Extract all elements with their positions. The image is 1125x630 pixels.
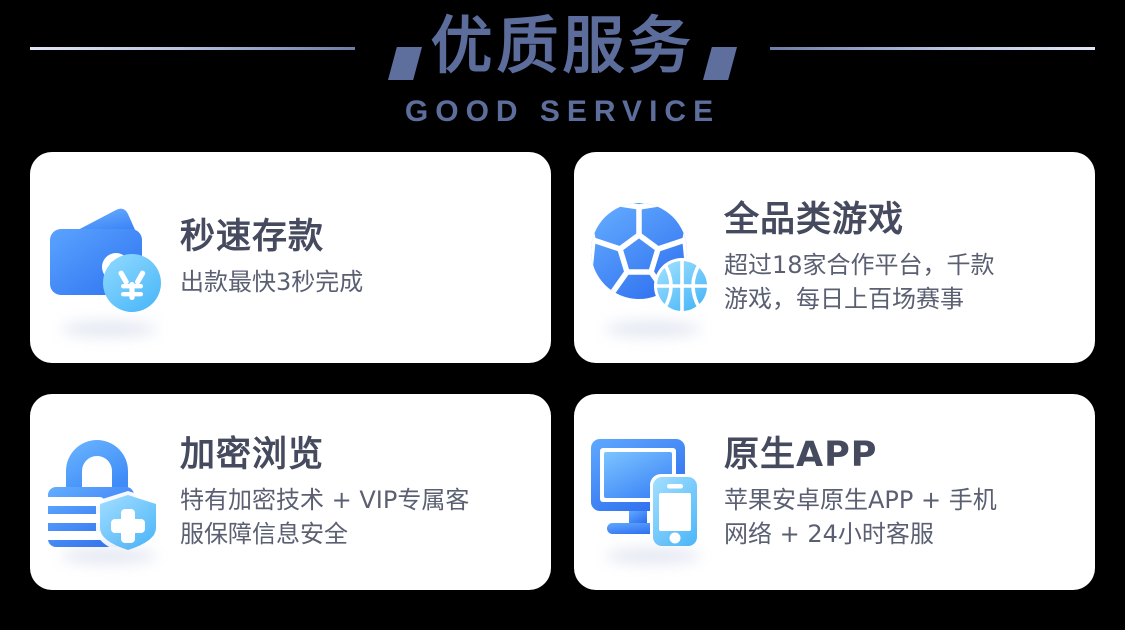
- card-description-line: 网络 + 24小时客服: [724, 517, 1077, 551]
- wallet-yen-icon: [30, 152, 180, 363]
- service-card-native-app[interactable]: 原生APP 苹果安卓原生APP + 手机 网络 + 24小时客服: [574, 394, 1095, 590]
- monitor-phone-icon-svg: [587, 433, 711, 551]
- card-text-block: 秒速存款 出款最快3秒完成: [180, 216, 551, 299]
- card-text-block: 原生APP 苹果安卓原生APP + 手机 网络 + 24小时客服: [724, 434, 1095, 551]
- soccer-basketball-icon: [574, 152, 724, 363]
- icon-shadow: [605, 321, 701, 337]
- card-title: 秒速存款: [180, 216, 533, 258]
- service-card-instant-deposit[interactable]: 秒速存款 出款最快3秒完成: [30, 152, 551, 363]
- card-title: 加密浏览: [180, 434, 533, 476]
- soccer-basketball-icon-svg: [586, 197, 712, 319]
- page-subtitle: GOOD SERVICE: [0, 94, 1125, 130]
- card-text-block: 加密浏览 特有加密技术 + VIP专属客 服保障信息安全: [180, 434, 551, 551]
- card-title: 全品类游戏: [724, 199, 1077, 241]
- card-description-line: 出款最快3秒完成: [180, 265, 533, 299]
- page-header: 优质服务 GOOD SERVICE: [0, 0, 1125, 145]
- wallet-yen-icon-svg: [44, 199, 166, 317]
- card-description-line: 超过18家合作平台，千款: [724, 248, 1077, 282]
- card-title: 原生APP: [724, 434, 1077, 476]
- card-description: 出款最快3秒完成: [180, 265, 533, 299]
- card-description: 特有加密技术 + VIP专属客 服保障信息安全: [180, 483, 533, 551]
- card-description-line: 苹果安卓原生APP + 手机: [724, 483, 1077, 517]
- lock-shield-icon-svg: [44, 429, 166, 555]
- service-card-all-category-games[interactable]: 全品类游戏 超过18家合作平台，千款 游戏，每日上百场赛事: [574, 152, 1095, 363]
- card-description-line: 特有加密技术 + VIP专属客: [180, 483, 533, 517]
- header-title-group: 优质服务 GOOD SERVICE: [0, 0, 1125, 130]
- lock-shield-icon: [30, 394, 180, 590]
- card-description: 苹果安卓原生APP + 手机 网络 + 24小时客服: [724, 483, 1077, 551]
- card-description-line: 服保障信息安全: [180, 517, 533, 551]
- service-card-encrypted-browsing[interactable]: 加密浏览 特有加密技术 + VIP专属客 服保障信息安全: [30, 394, 551, 590]
- card-description: 超过18家合作平台，千款 游戏，每日上百场赛事: [724, 248, 1077, 316]
- monitor-phone-icon: [574, 394, 724, 590]
- card-text-block: 全品类游戏 超过18家合作平台，千款 游戏，每日上百场赛事: [724, 199, 1095, 316]
- card-description-line: 游戏，每日上百场赛事: [724, 282, 1077, 316]
- page-title: 优质服务: [0, 0, 1125, 92]
- icon-shadow: [61, 321, 157, 337]
- service-card-grid: 秒速存款 出款最快3秒完成: [30, 152, 1095, 590]
